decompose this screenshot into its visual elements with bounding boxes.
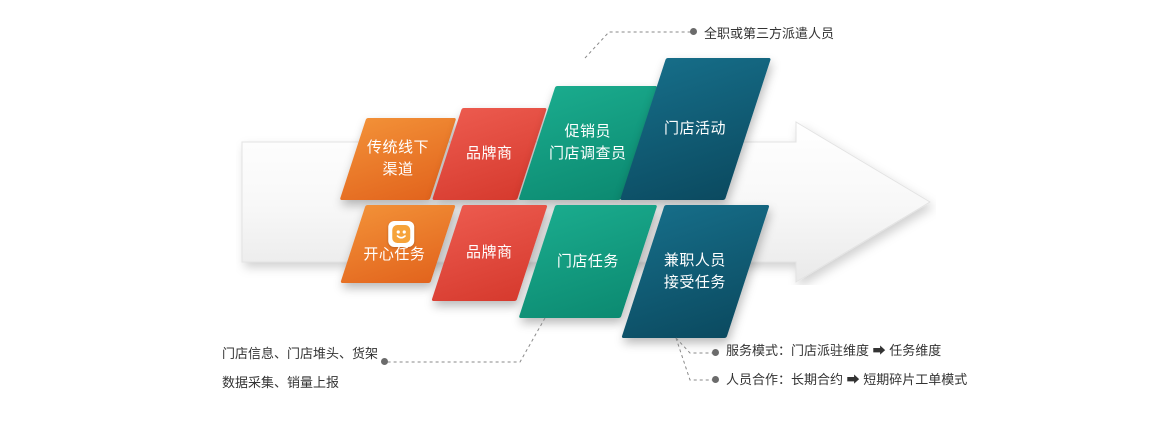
annotation-bottom-left-line2: 数据采集、销量上报 (222, 373, 339, 393)
callout-dot-bottom-right-2 (712, 376, 719, 383)
callout-dot-bottom-left (381, 358, 388, 365)
annotation-top-right: 全职或第三方派遣人员 (704, 24, 834, 44)
callout-dot-top-right (690, 28, 697, 35)
tile-top-2-label: 品牌商 (466, 143, 513, 165)
diagram-canvas: 传统线下 渠道 品牌商 促销员 门店调查员 门店活动 开心任务 (0, 0, 1150, 430)
tile-bottom-2-label: 品牌商 (466, 242, 513, 264)
tile-top-4-label: 门店活动 (664, 118, 726, 140)
annotation-bottom-left-line1: 门店信息、门店堆头、货架 (222, 344, 378, 364)
tile-bottom-3-label: 门店任务 (557, 251, 619, 273)
callout-dot-bottom-right-1 (712, 349, 719, 356)
tile-top-3-label: 促销员 门店调查员 (549, 121, 627, 165)
annotation-bottom-right-line1: 服务模式：门店派驻维度 ➡ 任务维度 (726, 341, 941, 361)
tile-top-1-label: 传统线下 渠道 (367, 137, 429, 181)
tile-bottom-4-label: 兼职人员 接受任务 (664, 250, 726, 294)
tile-bottom-1-label: 开心任务 (363, 244, 425, 266)
annotation-bottom-right-line2: 人员合作：长期合约 ➡ 短期碎片工单模式 (726, 370, 967, 390)
